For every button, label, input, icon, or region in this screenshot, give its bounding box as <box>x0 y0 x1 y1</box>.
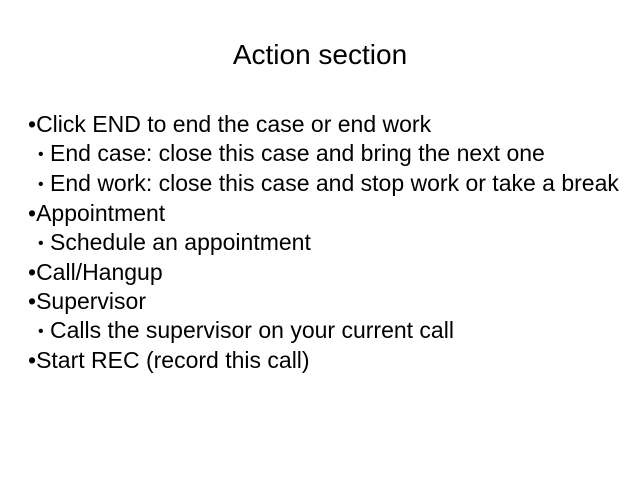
bullet-point-icon: • <box>28 288 36 314</box>
bullet-point-icon: • <box>28 111 36 137</box>
bullet-item-level-2: • End work: close this case and stop wor… <box>28 169 620 199</box>
bullet-item-label: End work: close this case and stop work … <box>44 170 619 196</box>
presentation-slide: Action section •Click END to end the cas… <box>0 0 640 480</box>
bullet-item-label: Appointment <box>36 200 165 226</box>
page-title: Action section <box>0 38 640 72</box>
bullet-item-level-2: • End case: close this case and bring th… <box>28 139 620 169</box>
bullet-item-level-2: • Calls the supervisor on your current c… <box>28 316 620 346</box>
bullet-item-level-2: • Schedule an appointment <box>28 228 620 258</box>
bullet-point-icon: • <box>28 347 36 373</box>
bullet-item-label: Supervisor <box>36 288 146 314</box>
bullet-item-label: Click END to end the case or end work <box>36 111 431 137</box>
bullet-item-label: Calls the supervisor on your current cal… <box>44 317 454 343</box>
bullet-item-label: End case: close this case and bring the … <box>44 140 545 166</box>
bullet-item-label: Schedule an appointment <box>44 229 311 255</box>
bullet-item-level-1: •Click END to end the case or end work <box>28 110 620 139</box>
bullet-list: •Click END to end the case or end work• … <box>28 110 620 375</box>
bullet-item-label: Call/Hangup <box>36 259 163 285</box>
bullet-item-level-1: •Supervisor <box>28 287 620 316</box>
bullet-item-level-1: •Call/Hangup <box>28 258 620 287</box>
bullet-point-icon: • <box>28 259 36 285</box>
bullet-point-icon: • <box>28 200 36 226</box>
bullet-item-level-1: •Start REC (record this call) <box>28 346 620 375</box>
bullet-item-label: Start REC (record this call) <box>36 347 310 373</box>
bullet-item-level-1: •Appointment <box>28 199 620 228</box>
